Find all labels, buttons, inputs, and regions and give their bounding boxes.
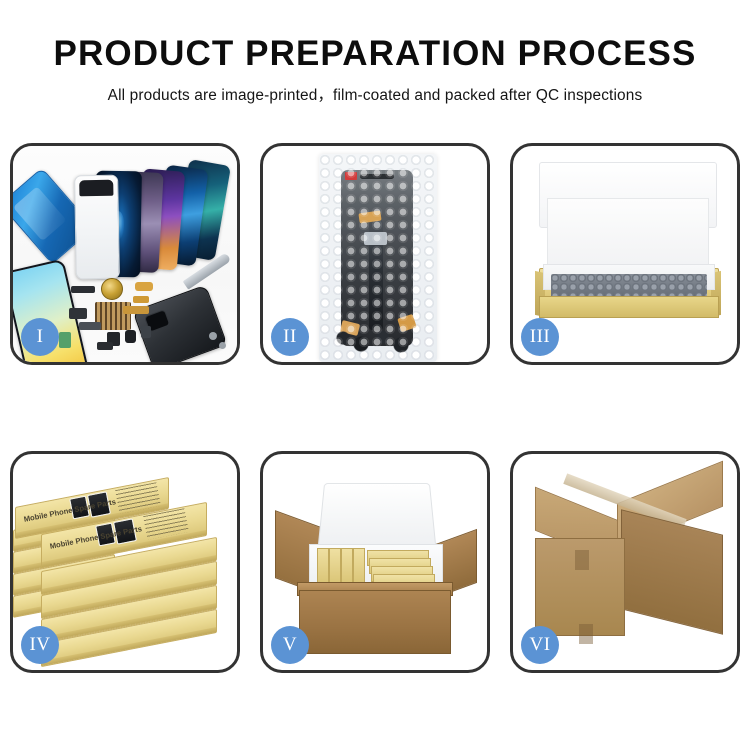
spare-part (97, 342, 113, 350)
carton-side-face (621, 509, 723, 634)
page-title: PRODUCT PREPARATION PROCESS (0, 34, 750, 74)
step-badge-3: III (521, 318, 559, 356)
foam-lid (318, 483, 437, 549)
spare-part (69, 308, 87, 319)
spare-part (219, 342, 226, 349)
spare-part (71, 286, 95, 293)
carton-body (299, 590, 451, 654)
spare-part (209, 332, 217, 340)
process-steps-grid: I II (10, 143, 740, 673)
bubble-wrap-overlay (319, 154, 437, 362)
spare-part (79, 322, 101, 330)
spare-part (141, 326, 151, 338)
screen-protector-glass (74, 175, 120, 280)
box-front-panel (539, 296, 719, 318)
step-panel-6: VI (510, 451, 740, 673)
step-badge-1: I (21, 318, 59, 356)
carton-flap-seam (579, 624, 593, 644)
step-panel-5: V (260, 451, 490, 673)
step-panel-3: III (510, 143, 740, 365)
step-panel-1: I (10, 143, 240, 365)
step-badge-6: VI (521, 626, 559, 664)
step-panel-2: II (260, 143, 490, 365)
gold-coil-part (101, 278, 123, 300)
page-header: PRODUCT PREPARATION PROCESS All products… (0, 34, 750, 105)
spare-part (135, 282, 153, 291)
spare-part (59, 332, 71, 348)
page-subtitle: All products are image-printed，film-coat… (0, 83, 750, 105)
spare-part (133, 296, 149, 303)
step-badge-4: IV (21, 626, 59, 664)
spare-part (125, 330, 136, 343)
step-panel-4: Mobile Phone Spare Parts Mobile Phone Sp… (10, 451, 240, 673)
product-preparation-page: PRODUCT PREPARATION PROCESS All products… (0, 0, 750, 750)
carton-flap-seam (575, 550, 589, 570)
spare-part (123, 306, 149, 314)
step-badge-5: V (271, 626, 309, 664)
step-badge-2: II (271, 318, 309, 356)
